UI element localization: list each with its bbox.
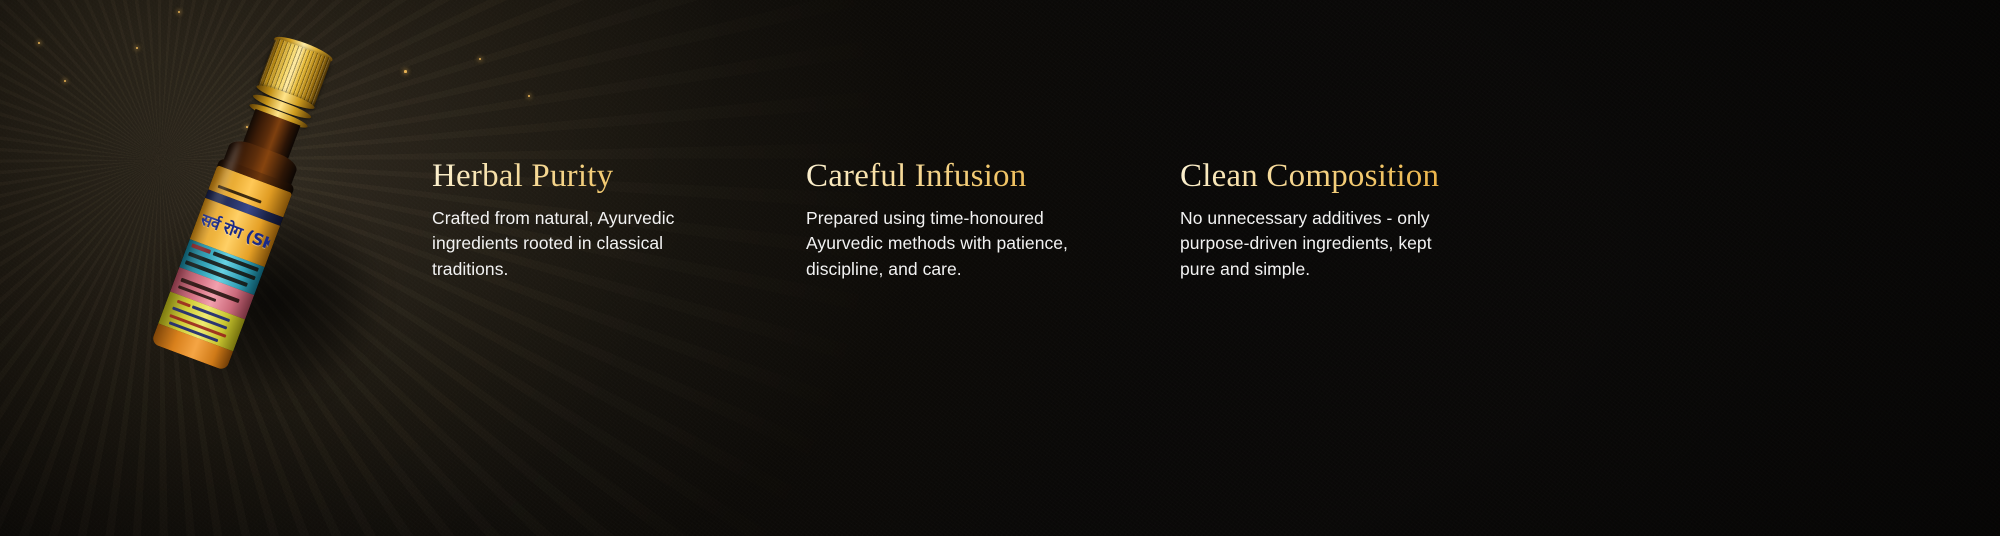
sparkle-particle	[64, 80, 66, 82]
feature-list: Herbal Purity Crafted from natural, Ayur…	[432, 158, 1952, 298]
feature-description: No unnecessary additives - only purpose-…	[1180, 206, 1470, 282]
promo-banner: सर्व रोग (SKIN Herbal Purity Crafted fro…	[0, 0, 2000, 536]
feature-heading: Clean Composition	[1180, 158, 1554, 195]
sparkle-particle	[136, 47, 138, 49]
feature-item-careful-infusion: Careful Infusion Prepared using time-hon…	[806, 158, 1180, 298]
feature-item-clean-composition: Clean Composition No unnecessary additiv…	[1180, 158, 1554, 298]
sparkle-particle	[528, 95, 530, 97]
sparkle-particle	[404, 70, 407, 73]
feature-description: Crafted from natural, Ayurvedic ingredie…	[432, 206, 722, 282]
feature-heading: Careful Infusion	[806, 158, 1180, 195]
feature-item-herbal-purity: Herbal Purity Crafted from natural, Ayur…	[432, 158, 806, 298]
product-image: सर्व रोग (SKIN	[150, 34, 400, 364]
feature-heading: Herbal Purity	[432, 158, 806, 195]
feature-description: Prepared using time-honoured Ayurvedic m…	[806, 206, 1106, 282]
